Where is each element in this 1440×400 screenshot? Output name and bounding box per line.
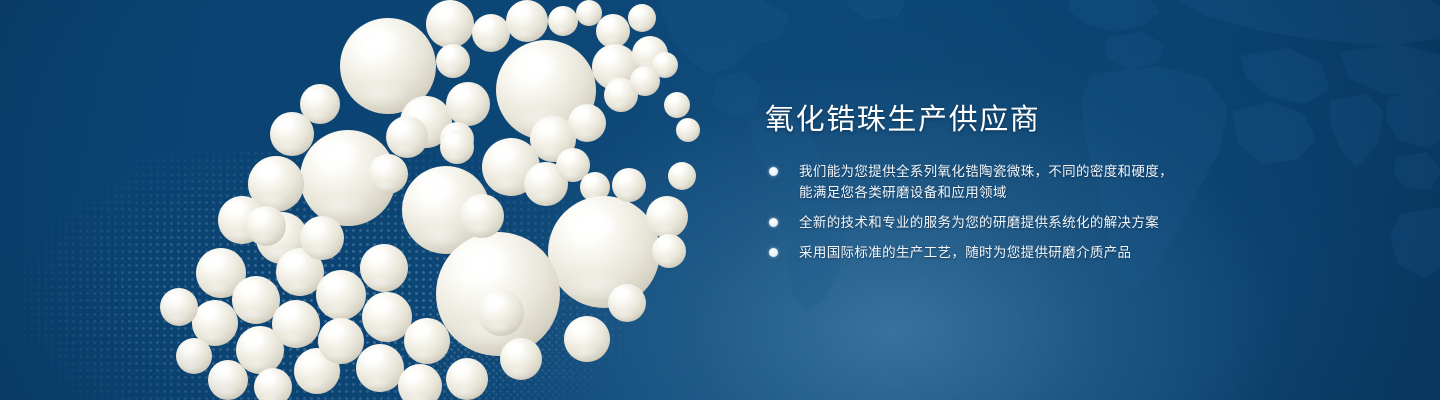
feature-text-line-2: 能满足您各类研磨设备和应用领域: [799, 182, 1385, 203]
product-hero-banner: 氧化锆珠生产供应商 我们能为您提供全系列氧化锆陶瓷微珠，不同的密度和硬度， 能满…: [0, 0, 1440, 400]
banner-copy-block: 氧化锆珠生产供应商 我们能为您提供全系列氧化锆陶瓷微珠，不同的密度和硬度， 能满…: [765, 103, 1385, 263]
bullet-dot-icon: [769, 218, 778, 227]
bullet-dot-icon: [769, 248, 778, 257]
banner-feature-list: 我们能为您提供全系列氧化锆陶瓷微珠，不同的密度和硬度， 能满足您各类研磨设备和应…: [765, 161, 1385, 263]
banner-headline: 氧化锆珠生产供应商: [765, 103, 1385, 137]
feature-text-line-1: 我们能为您提供全系列氧化锆陶瓷微珠，不同的密度和硬度，: [799, 161, 1385, 182]
feature-item-product-range: 我们能为您提供全系列氧化锆陶瓷微珠，不同的密度和硬度， 能满足您各类研磨设备和应…: [765, 161, 1385, 203]
feature-text-line-1: 采用国际标准的生产工艺，随时为您提供研磨介质产品: [799, 242, 1385, 263]
feature-text-line-1: 全新的技术和专业的服务为您的研磨提供系统化的解决方案: [799, 212, 1385, 233]
feature-item-international-standard: 采用国际标准的生产工艺，随时为您提供研磨介质产品: [765, 242, 1385, 263]
bullet-dot-icon: [769, 167, 778, 176]
feature-item-technology-service: 全新的技术和专业的服务为您的研磨提供系统化的解决方案: [765, 212, 1385, 233]
